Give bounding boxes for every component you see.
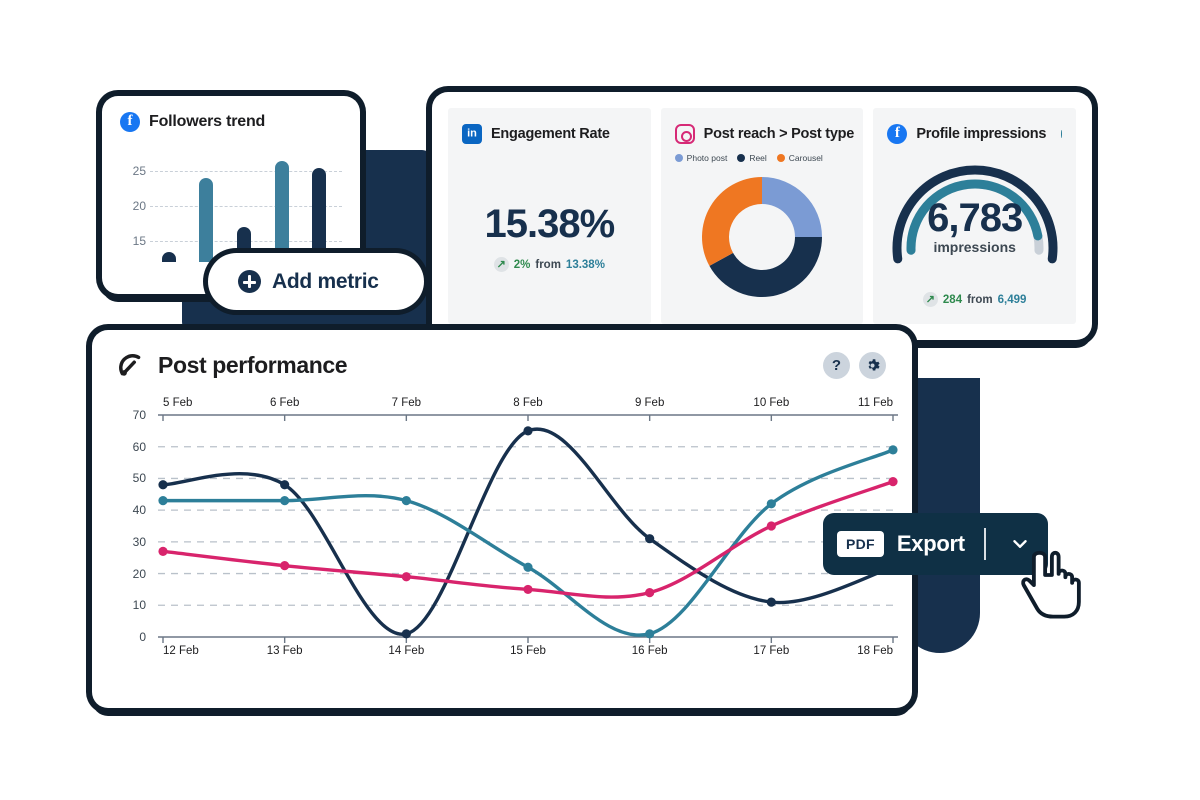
- legend-dot: [675, 154, 683, 162]
- bar[interactable]: [312, 168, 326, 263]
- facebook-icon: [887, 124, 907, 144]
- legend-label: Reel: [749, 153, 766, 163]
- x-axis-top-tick: 10 Feb: [753, 397, 789, 409]
- x-axis-bottom-tick: 17 Feb: [753, 645, 789, 657]
- export-divider: [984, 528, 986, 560]
- data-point[interactable]: [158, 480, 167, 489]
- impressions-unit: impressions: [887, 239, 1062, 255]
- trend-up-icon: [923, 292, 938, 307]
- gauge-icon: [118, 353, 144, 379]
- data-point[interactable]: [523, 426, 532, 435]
- data-point[interactable]: [645, 588, 654, 597]
- add-metric-label: Add metric: [272, 270, 379, 294]
- data-point[interactable]: [280, 561, 289, 570]
- engagement-panel-title: Engagement Rate: [491, 126, 610, 142]
- add-metric-button[interactable]: Add metric: [208, 253, 424, 310]
- x-axis-top-tick: 6 Feb: [270, 397, 299, 409]
- chart-bottom-axis-labels: 12 Feb13 Feb14 Feb15 Feb16 Feb17 Feb18 F…: [158, 645, 886, 661]
- legend-item: Photo post: [675, 153, 728, 163]
- post-performance-chart: 5 Feb6 Feb7 Feb8 Feb9 Feb10 Feb11 Feb 01…: [118, 401, 886, 669]
- data-point[interactable]: [645, 534, 654, 543]
- impressions-delta-from: from: [967, 294, 993, 306]
- export-button[interactable]: PDF Export: [823, 513, 1048, 575]
- y-axis-tick: 30: [133, 535, 146, 549]
- profile-impressions-panel: Profile impressions 6,783 impressions 28…: [873, 108, 1076, 324]
- instagram-icon: [675, 124, 695, 144]
- linkedin-icon: [462, 124, 482, 144]
- donut-slice[interactable]: [762, 177, 822, 237]
- y-axis-tick: 40: [133, 503, 146, 517]
- y-axis-tick: 70: [133, 408, 146, 422]
- post-performance-card: Post performance ? 5 Feb6 Feb7 Feb8 Feb9…: [92, 330, 912, 708]
- settings-button[interactable]: [859, 352, 886, 379]
- trend-up-icon: [494, 257, 509, 272]
- donut-chart: [675, 169, 850, 305]
- bar-y-tick: 15: [133, 234, 146, 248]
- post-reach-panel-header: Post reach > Post type: [675, 124, 850, 144]
- engagement-panel-header: Engagement Rate: [462, 124, 637, 144]
- bar[interactable]: [275, 161, 289, 263]
- x-axis-bottom-tick: 15 Feb: [510, 645, 546, 657]
- line-series[interactable]: [163, 482, 893, 597]
- impressions-delta-baseline: 6,499: [998, 294, 1027, 306]
- impressions-panel-title: Profile impressions: [916, 126, 1046, 142]
- post-performance-header: Post performance ?: [118, 352, 886, 379]
- data-point[interactable]: [402, 496, 411, 505]
- legend-label: Photo post: [687, 153, 728, 163]
- data-point[interactable]: [280, 496, 289, 505]
- chart-y-axis-labels: 010203040506070: [118, 415, 146, 637]
- data-point[interactable]: [402, 572, 411, 581]
- bar[interactable]: [162, 252, 176, 263]
- bar-y-tick: 25: [133, 164, 146, 178]
- data-point[interactable]: [645, 629, 654, 638]
- data-point[interactable]: [888, 445, 897, 454]
- engagement-delta-value: 2%: [514, 259, 531, 271]
- legend-dot: [737, 154, 745, 162]
- y-axis-tick: 50: [133, 471, 146, 485]
- y-axis-tick: 60: [133, 440, 146, 454]
- x-axis-top-tick: 9 Feb: [635, 397, 664, 409]
- donut-legend: Photo postReelCarousel: [675, 153, 850, 163]
- export-label: Export: [897, 531, 965, 557]
- bar[interactable]: [199, 178, 213, 262]
- legend-dot: [777, 154, 785, 162]
- pdf-format-badge: PDF: [837, 531, 884, 557]
- status-dot: [1061, 130, 1062, 138]
- post-performance-title: Post performance: [158, 352, 347, 379]
- data-point[interactable]: [280, 480, 289, 489]
- data-point[interactable]: [523, 585, 532, 594]
- x-axis-bottom-tick: 14 Feb: [388, 645, 424, 657]
- followers-card-title: Followers trend: [149, 113, 265, 131]
- post-reach-panel-title: Post reach > Post type: [704, 126, 854, 142]
- impressions-panel-header: Profile impressions: [887, 124, 1062, 144]
- engagement-rate-panel: Engagement Rate 15.38% 2% from 13.38%: [448, 108, 651, 324]
- post-performance-actions: ?: [823, 352, 886, 379]
- x-axis-bottom-tick: 16 Feb: [632, 645, 668, 657]
- line-series[interactable]: [163, 429, 893, 634]
- line-chart-svg: [158, 415, 898, 637]
- kpi-strip-card: Engagement Rate 15.38% 2% from 13.38% Po…: [432, 92, 1092, 340]
- facebook-icon: [120, 112, 140, 132]
- help-button-label: ?: [832, 357, 841, 374]
- help-button[interactable]: ?: [823, 352, 850, 379]
- chart-top-axis-labels: 5 Feb6 Feb7 Feb8 Feb9 Feb10 Feb11 Feb: [158, 397, 886, 413]
- x-axis-bottom-tick: 13 Feb: [267, 645, 303, 657]
- x-axis-bottom-tick: 12 Feb: [163, 645, 199, 657]
- legend-label: Carousel: [789, 153, 823, 163]
- chart-plot-area: [158, 415, 886, 637]
- x-axis-top-tick: 5 Feb: [163, 397, 192, 409]
- bar-chart-bars: [150, 150, 338, 262]
- impressions-delta-value: 284: [943, 294, 962, 306]
- engagement-delta-from: from: [535, 259, 561, 271]
- x-axis-top-tick: 11 Feb: [858, 397, 893, 409]
- data-point[interactable]: [158, 496, 167, 505]
- y-axis-tick: 20: [133, 567, 146, 581]
- bar-chart-y-axis: 152025: [120, 150, 146, 262]
- data-point[interactable]: [523, 563, 532, 572]
- dashboard-screenshot: Followers trend 152025 Add metric Engage…: [0, 0, 1200, 800]
- data-point[interactable]: [767, 598, 776, 607]
- y-axis-tick: 0: [139, 630, 146, 644]
- engagement-rate-value: 15.38%: [462, 202, 637, 247]
- data-point[interactable]: [402, 629, 411, 638]
- plus-circle-icon: [238, 270, 261, 293]
- hand-pointer-cursor: [1018, 548, 1088, 620]
- data-point[interactable]: [158, 547, 167, 556]
- impressions-value: 6,783: [887, 196, 1062, 241]
- donut-slice[interactable]: [702, 177, 762, 266]
- followers-card-header: Followers trend: [120, 112, 342, 132]
- x-axis-top-tick: 7 Feb: [392, 397, 421, 409]
- donut-svg: [694, 169, 830, 305]
- legend-item: Carousel: [777, 153, 823, 163]
- x-axis-bottom-tick: 18 Feb: [857, 645, 893, 657]
- engagement-delta-baseline: 13.38%: [566, 259, 605, 271]
- data-point[interactable]: [767, 499, 776, 508]
- x-axis-top-tick: 8 Feb: [513, 397, 542, 409]
- engagement-delta: 2% from 13.38%: [462, 257, 637, 272]
- data-point[interactable]: [888, 477, 897, 486]
- data-point[interactable]: [767, 521, 776, 530]
- y-axis-tick: 10: [133, 598, 146, 612]
- impressions-gauge: 6,783 impressions: [887, 150, 1062, 268]
- bar-y-tick: 20: [133, 199, 146, 213]
- gear-icon: [865, 358, 880, 373]
- post-reach-panel: Post reach > Post type Photo postReelCar…: [661, 108, 864, 324]
- legend-item: Reel: [737, 153, 766, 163]
- impressions-delta: 284 from 6,499: [887, 292, 1062, 307]
